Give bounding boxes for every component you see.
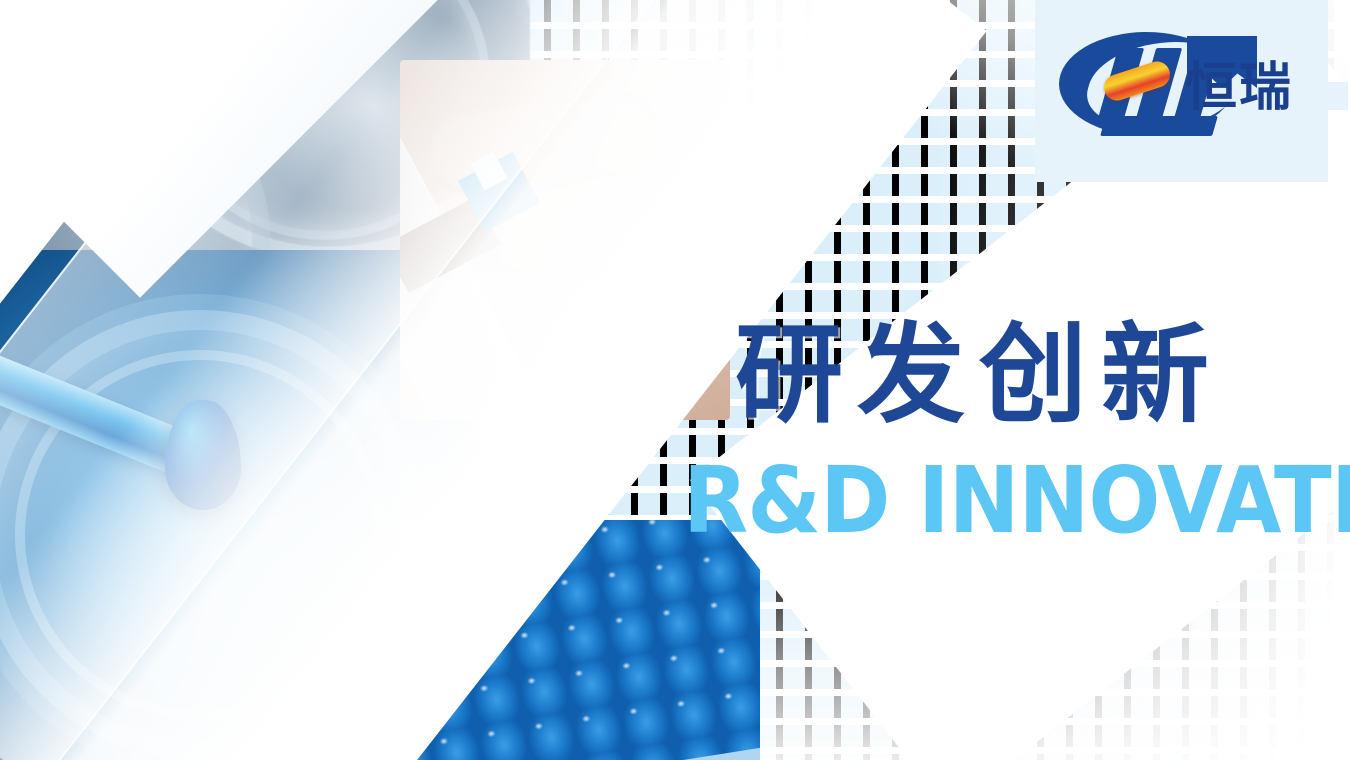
logo-panel: 恒瑞 [1035, 0, 1328, 182]
rd-innovation-banner: 恒瑞 研发创新 R&D INNOVATION [0, 0, 1350, 760]
logo-crossbar [1100, 116, 1218, 136]
logo-wordmark: 恒瑞 [1185, 62, 1293, 114]
headline-chinese: 研发创新 [735, 322, 1223, 430]
headline-english: R&D INNOVATION [683, 455, 1350, 547]
logo-panel-notch [1328, 82, 1348, 110]
